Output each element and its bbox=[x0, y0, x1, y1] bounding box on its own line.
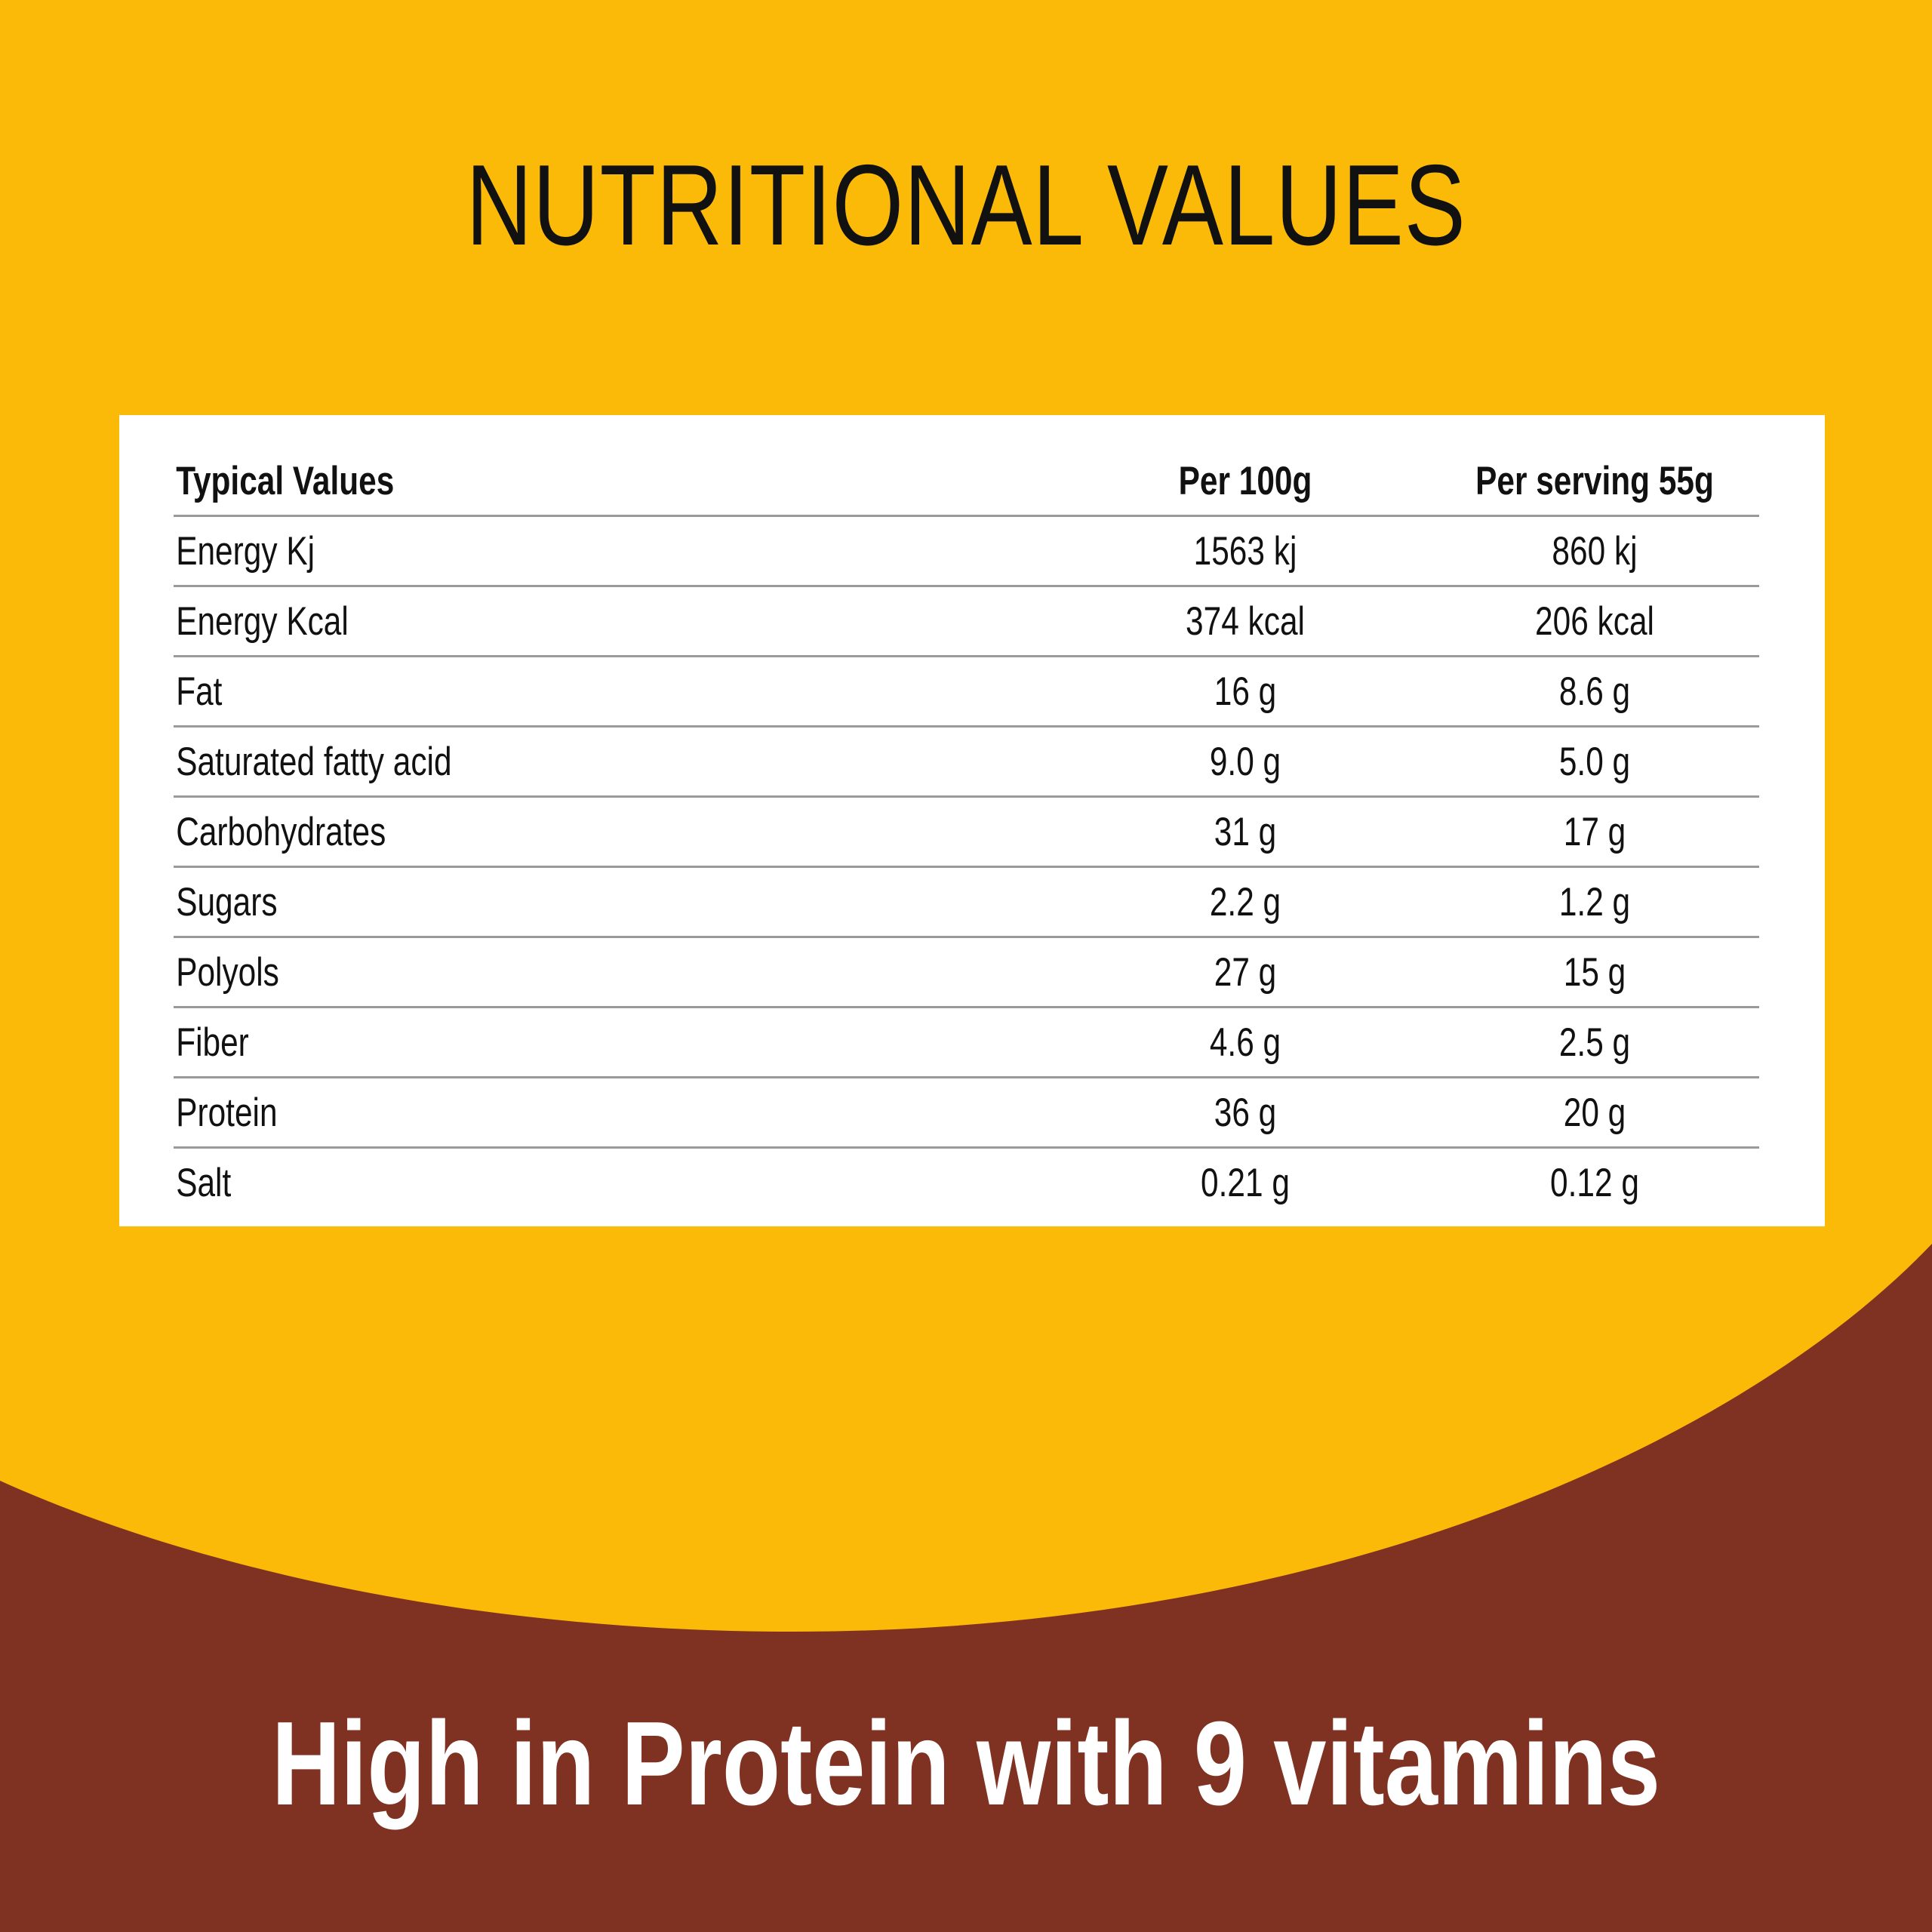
row-per-100g-text: 16 g bbox=[1097, 672, 1393, 712]
table-row: Polyols 27 g 15 g bbox=[174, 937, 1759, 1008]
row-per-100g-text: 4.6 g bbox=[1097, 1023, 1393, 1063]
nutrition-table-card: Typical Values Per 100g Per serving 55g … bbox=[119, 415, 1825, 1226]
table-body: Energy Kj 1563 kj 860 kj Energy Kcal 374… bbox=[174, 516, 1759, 1217]
row-label-text: Energy Kj bbox=[174, 531, 883, 571]
table-header-row: Typical Values Per 100g Per serving 55g bbox=[174, 447, 1759, 516]
row-per-serving-text: 8.6 g bbox=[1463, 672, 1727, 712]
row-label-text: Protein bbox=[174, 1093, 883, 1133]
row-per-100g-cell: 16 g bbox=[1060, 657, 1430, 727]
row-per-serving-cell: 8.6 g bbox=[1430, 657, 1759, 727]
row-per-serving-text: 206 kcal bbox=[1463, 601, 1727, 641]
row-per-serving-cell: 17 g bbox=[1430, 797, 1759, 867]
table-row: Fat 16 g 8.6 g bbox=[174, 657, 1759, 727]
row-per-100g-cell: 36 g bbox=[1060, 1078, 1430, 1148]
row-per-100g-cell: 1563 kj bbox=[1060, 516, 1430, 586]
row-per-serving-cell: 2.5 g bbox=[1430, 1008, 1759, 1078]
row-per-serving-cell: 206 kcal bbox=[1430, 586, 1759, 657]
row-per-serving-text: 0.12 g bbox=[1463, 1163, 1727, 1203]
table-header: Typical Values Per 100g Per serving 55g bbox=[174, 447, 1759, 516]
row-label-cell: Salt bbox=[174, 1148, 1060, 1217]
row-label-text: Fat bbox=[174, 672, 883, 712]
nutrition-label-graphic: NUTRITIONAL VALUES Typical Values Per 10… bbox=[0, 0, 1932, 1932]
row-per-100g-cell: 2.2 g bbox=[1060, 867, 1430, 937]
table-row: Salt 0.21 g 0.12 g bbox=[174, 1148, 1759, 1217]
table-row: Energy Kcal 374 kcal 206 kcal bbox=[174, 586, 1759, 657]
row-label-cell: Fiber bbox=[174, 1008, 1060, 1078]
row-per-serving-text: 15 g bbox=[1463, 952, 1727, 992]
row-per-serving-cell: 20 g bbox=[1430, 1078, 1759, 1148]
column-header-per-100g-text: Per 100g bbox=[1097, 461, 1393, 501]
table-row: Sugars 2.2 g 1.2 g bbox=[174, 867, 1759, 937]
row-per-100g-cell: 9.0 g bbox=[1060, 727, 1430, 797]
row-label-text: Sugars bbox=[174, 882, 883, 922]
row-per-100g-text: 36 g bbox=[1097, 1093, 1393, 1133]
column-header-per-serving-text: Per serving 55g bbox=[1463, 461, 1727, 501]
row-per-100g-text: 27 g bbox=[1097, 952, 1393, 992]
row-per-100g-cell: 31 g bbox=[1060, 797, 1430, 867]
row-per-serving-cell: 860 kj bbox=[1430, 516, 1759, 586]
row-label-text: Energy Kcal bbox=[174, 601, 883, 641]
row-per-100g-cell: 0.21 g bbox=[1060, 1148, 1430, 1217]
row-label-cell: Sugars bbox=[174, 867, 1060, 937]
table-row: Protein 36 g 20 g bbox=[174, 1078, 1759, 1148]
column-header-typical-values: Typical Values bbox=[174, 447, 1060, 516]
row-per-serving-cell: 1.2 g bbox=[1430, 867, 1759, 937]
row-label-cell: Energy Kj bbox=[174, 516, 1060, 586]
row-label-text: Salt bbox=[174, 1163, 883, 1203]
row-per-100g-text: 1563 kj bbox=[1097, 531, 1393, 571]
row-label-cell: Protein bbox=[174, 1078, 1060, 1148]
row-label-cell: Fat bbox=[174, 657, 1060, 727]
row-per-serving-text: 5.0 g bbox=[1463, 742, 1727, 782]
nutrition-table: Typical Values Per 100g Per serving 55g … bbox=[174, 447, 1759, 1217]
row-per-serving-text: 17 g bbox=[1463, 812, 1727, 852]
row-per-100g-text: 2.2 g bbox=[1097, 882, 1393, 922]
table-row: Fiber 4.6 g 2.5 g bbox=[174, 1008, 1759, 1078]
row-label-text: Fiber bbox=[174, 1023, 883, 1063]
row-per-serving-cell: 0.12 g bbox=[1430, 1148, 1759, 1217]
row-per-100g-cell: 4.6 g bbox=[1060, 1008, 1430, 1078]
row-per-100g-cell: 374 kcal bbox=[1060, 586, 1430, 657]
row-per-serving-text: 1.2 g bbox=[1463, 882, 1727, 922]
row-label-text: Saturated fatty acid bbox=[174, 742, 883, 782]
row-label-text: Carbohydrates bbox=[174, 812, 883, 852]
page-title: NUTRITIONAL VALUES bbox=[193, 148, 1739, 263]
column-header-typical-values-text: Typical Values bbox=[174, 461, 883, 501]
row-per-serving-cell: 15 g bbox=[1430, 937, 1759, 1008]
row-per-100g-text: 0.21 g bbox=[1097, 1163, 1393, 1203]
row-label-cell: Saturated fatty acid bbox=[174, 727, 1060, 797]
row-label-cell: Polyols bbox=[174, 937, 1060, 1008]
tagline-text: High in Protein with 9 vitamins bbox=[193, 1704, 1739, 1823]
column-header-per-100g: Per 100g bbox=[1060, 447, 1430, 516]
row-per-serving-cell: 5.0 g bbox=[1430, 727, 1759, 797]
row-per-serving-text: 2.5 g bbox=[1463, 1023, 1727, 1063]
row-label-cell: Energy Kcal bbox=[174, 586, 1060, 657]
row-label-text: Polyols bbox=[174, 952, 883, 992]
row-per-serving-text: 860 kj bbox=[1463, 531, 1727, 571]
table-row: Energy Kj 1563 kj 860 kj bbox=[174, 516, 1759, 586]
row-per-serving-text: 20 g bbox=[1463, 1093, 1727, 1133]
column-header-per-serving: Per serving 55g bbox=[1430, 447, 1759, 516]
row-per-100g-text: 374 kcal bbox=[1097, 601, 1393, 641]
row-label-cell: Carbohydrates bbox=[174, 797, 1060, 867]
table-row: Saturated fatty acid 9.0 g 5.0 g bbox=[174, 727, 1759, 797]
row-per-100g-cell: 27 g bbox=[1060, 937, 1430, 1008]
table-row: Carbohydrates 31 g 17 g bbox=[174, 797, 1759, 867]
row-per-100g-text: 31 g bbox=[1097, 812, 1393, 852]
row-per-100g-text: 9.0 g bbox=[1097, 742, 1393, 782]
